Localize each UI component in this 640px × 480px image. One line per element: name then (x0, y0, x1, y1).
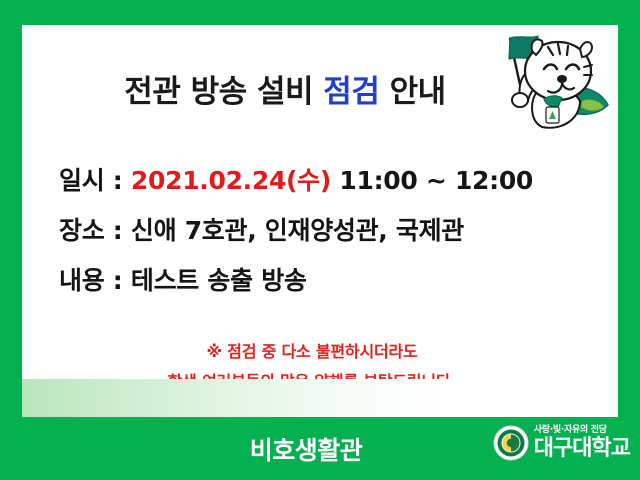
body-label-content: 내용 : (59, 266, 131, 295)
body-value-content: 테스트 송출 방송 (131, 266, 307, 295)
title-text-after: 안내 (379, 74, 445, 110)
title-text-highlight: 점검 (323, 74, 379, 110)
apology-notice-line-1: ※ 점검 중 다소 불편하시더라도 (22, 337, 602, 367)
white-tiger-mascot-icon (496, 27, 614, 135)
body-value-time: 11:00 ~ 12:00 (331, 166, 533, 195)
body-line-content: 내용 : 테스트 송출 방송 (59, 256, 579, 306)
body-label-datetime: 일시 : (59, 166, 131, 195)
notice-body: 일시 : 2021.02.24(수) 11:00 ~ 12:00 장소 : 신애… (59, 156, 579, 306)
notice-poster: 전관 방송 설비 점검 안내 (0, 0, 640, 480)
poster-content-card: 전관 방송 설비 점검 안내 (22, 25, 618, 417)
body-value-date: 2021.02.24(수) (131, 166, 331, 195)
body-label-location: 장소 : (59, 216, 131, 245)
body-line-datetime: 일시 : 2021.02.24(수) 11:00 ~ 12:00 (59, 156, 579, 206)
poster-footer: 비호생활관 사랑·빛·자유의 전당 대구대학교 (0, 417, 640, 480)
card-bottom-gradient (22, 379, 618, 417)
body-value-location: 신애 7호관, 인재양성관, 국제관 (131, 216, 464, 245)
university-emblem-icon (493, 425, 529, 461)
university-brand: 사랑·빛·자유의 전당 대구대학교 (493, 425, 630, 461)
university-name: 대구대학교 (534, 438, 630, 460)
university-tagline: 사랑·빛·자유의 전당 (534, 426, 630, 435)
title-text-before: 전관 방송 설비 (124, 74, 323, 110)
university-brand-text: 사랑·빛·자유의 전당 대구대학교 (534, 426, 630, 460)
body-line-location: 장소 : 신애 7호관, 인재양성관, 국제관 (59, 206, 579, 256)
